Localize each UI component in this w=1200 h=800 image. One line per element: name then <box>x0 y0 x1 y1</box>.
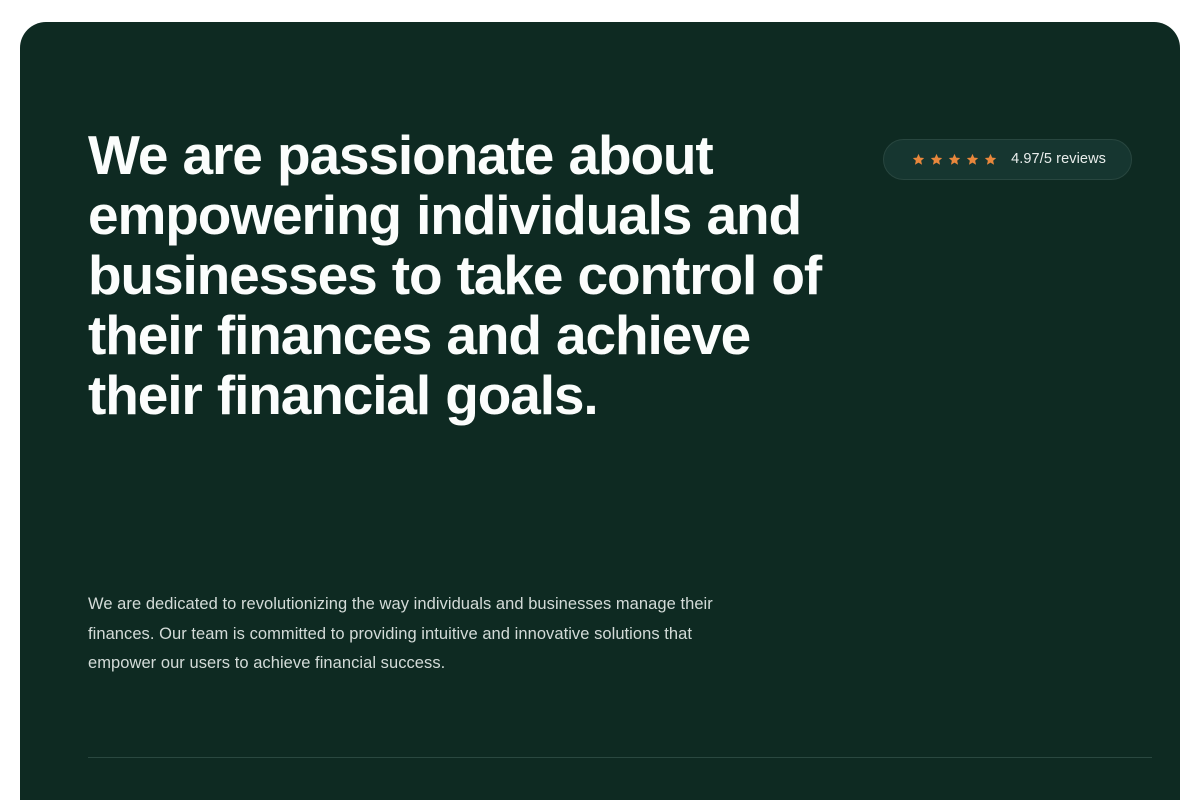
rating-label: 4.97/5 reviews <box>1011 152 1106 167</box>
rating-badge[interactable]: 4.97/5 reviews <box>883 139 1132 180</box>
hero-card: 4.97/5 reviews We are passionate about e… <box>20 22 1180 800</box>
hero-description: We are dedicated to revolutionizing the … <box>88 590 760 679</box>
star-icon <box>948 153 961 166</box>
section-divider <box>88 757 1152 758</box>
star-icon <box>912 153 925 166</box>
page-root: 4.97/5 reviews We are passionate about e… <box>0 0 1200 800</box>
star-icon <box>930 153 943 166</box>
page-title: We are passionate about empowering indiv… <box>88 125 848 425</box>
star-icon <box>984 153 997 166</box>
star-rating-group <box>912 153 997 166</box>
hero-content-container: 4.97/5 reviews We are passionate about e… <box>68 22 1132 800</box>
star-icon <box>966 153 979 166</box>
